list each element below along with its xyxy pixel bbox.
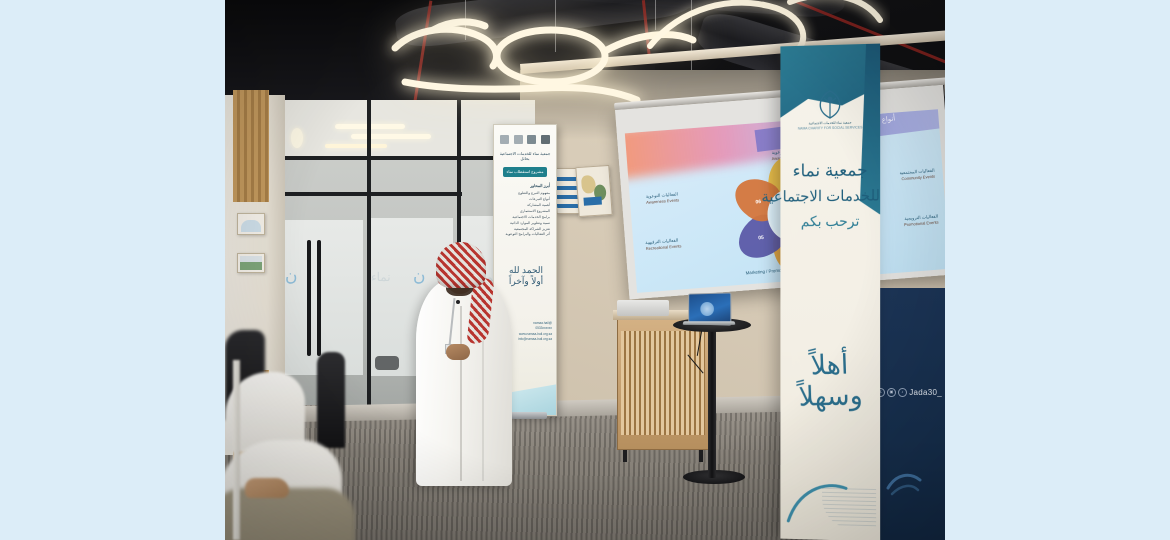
- namaa-line-2: للخدمات الاجتماعية: [780, 186, 880, 205]
- namaa-logo-text-ar: جمعية نماء للخدمات الاجتماعية: [809, 121, 852, 126]
- rollup-chip-label: مشروع استقطاب نماء: [503, 167, 547, 177]
- partner-logo: [527, 135, 536, 144]
- rollup-project-chip: مشروع استقطاب نماء: [503, 167, 547, 177]
- navy-handle-text: Jada30_: [909, 388, 942, 397]
- av-equipment-box: [617, 300, 669, 316]
- door-handle[interactable]: [307, 240, 311, 356]
- petal-number-05: 05: [758, 235, 764, 241]
- namaa-logo-text: جمعية نماء للخدمات الاجتماعية NAMA CHARI…: [792, 120, 868, 132]
- letterbox-left: [0, 0, 225, 540]
- namaa-logo-icon: [808, 86, 852, 121]
- framed-photo: [237, 253, 265, 273]
- lapel-microphone-icon: [456, 300, 460, 304]
- namaa-welcome-calligraphy: أهلاً وسهلاً: [783, 349, 877, 413]
- foreground-pole: [233, 360, 240, 540]
- slide-label-petal-06: الفعاليات التوعوية Awareness Events: [646, 188, 727, 206]
- presentation-photo: أنواع الفعاليات في الجمعيات الفعاليات ال…: [225, 0, 945, 540]
- partner-logo: [514, 135, 523, 144]
- glass-vinyl-logo: ن: [285, 266, 297, 286]
- framed-photo: [237, 213, 265, 235]
- rollup-title: جمعية نماء للخدمات الاجتماعية بحائل: [498, 151, 552, 161]
- navy-social-row: 𝕏 ▣ ♪ Jada30_: [876, 388, 942, 397]
- thobe-fold: [460, 306, 462, 481]
- rollup-bullet-list: مفهوم التبرع والتطوع أنواع التبرعات أهمي…: [500, 191, 550, 238]
- rollup-partner-logos: [498, 132, 552, 146]
- wooden-slat-cabinet: [617, 318, 709, 450]
- cabinet-slats: [621, 331, 705, 435]
- audience-foot: [245, 478, 289, 498]
- presenter-thobe: [416, 280, 512, 486]
- wood-slat-panel: [233, 90, 269, 202]
- pedestal-table-stem: [708, 326, 716, 478]
- partner-logo: [541, 135, 550, 144]
- office-chair: [375, 356, 399, 370]
- linear-light: [351, 134, 431, 139]
- namaa-line-3: ترحب بكم: [780, 213, 880, 231]
- namaa-swoosh-graphic: [784, 469, 864, 531]
- door-handle[interactable]: [317, 240, 321, 356]
- screenshot-canvas: أنواع الفعاليات في الجمعيات الفعاليات ال…: [0, 0, 1170, 540]
- presenter: [410, 236, 520, 486]
- navy-logo-mark: [884, 466, 924, 500]
- namaa-line-1: جمعية نماء: [780, 160, 880, 181]
- slide-label-petal-05: الفعاليات الترفيهية Recreational Events: [645, 234, 730, 252]
- tiktok-icon[interactable]: ♪: [898, 388, 907, 397]
- pendant-lamp: [291, 128, 303, 148]
- instagram-icon[interactable]: ▣: [887, 388, 896, 397]
- linear-light: [325, 144, 387, 148]
- partner-logo: [500, 135, 509, 144]
- wall-art-abstract: [575, 165, 612, 217]
- namaa-welcome-banner: جمعية نماء للخدمات الاجتماعية NAMA CHARI…: [780, 44, 880, 540]
- petal-number-06: 06: [755, 199, 761, 205]
- shemagh-headdress: [436, 242, 486, 288]
- glass-vinyl-wordmark: نماء: [371, 270, 391, 284]
- navy-banner: 𝕏 ▣ ♪ Jada30_: [870, 288, 945, 540]
- audience-member-foreground: [225, 488, 355, 540]
- namaa-logo-text-en: NAMA CHARITY FOR SOCIAL SERVICES: [798, 125, 863, 130]
- laptop-keyboard-base[interactable]: [682, 321, 735, 325]
- presenter-hands: [446, 344, 470, 360]
- rollup-section-heading: أبرز المحاور: [500, 183, 550, 188]
- letterbox-right: [945, 0, 1170, 540]
- audience-member-standing: [317, 352, 345, 448]
- laptop-screen-content: [700, 302, 714, 316]
